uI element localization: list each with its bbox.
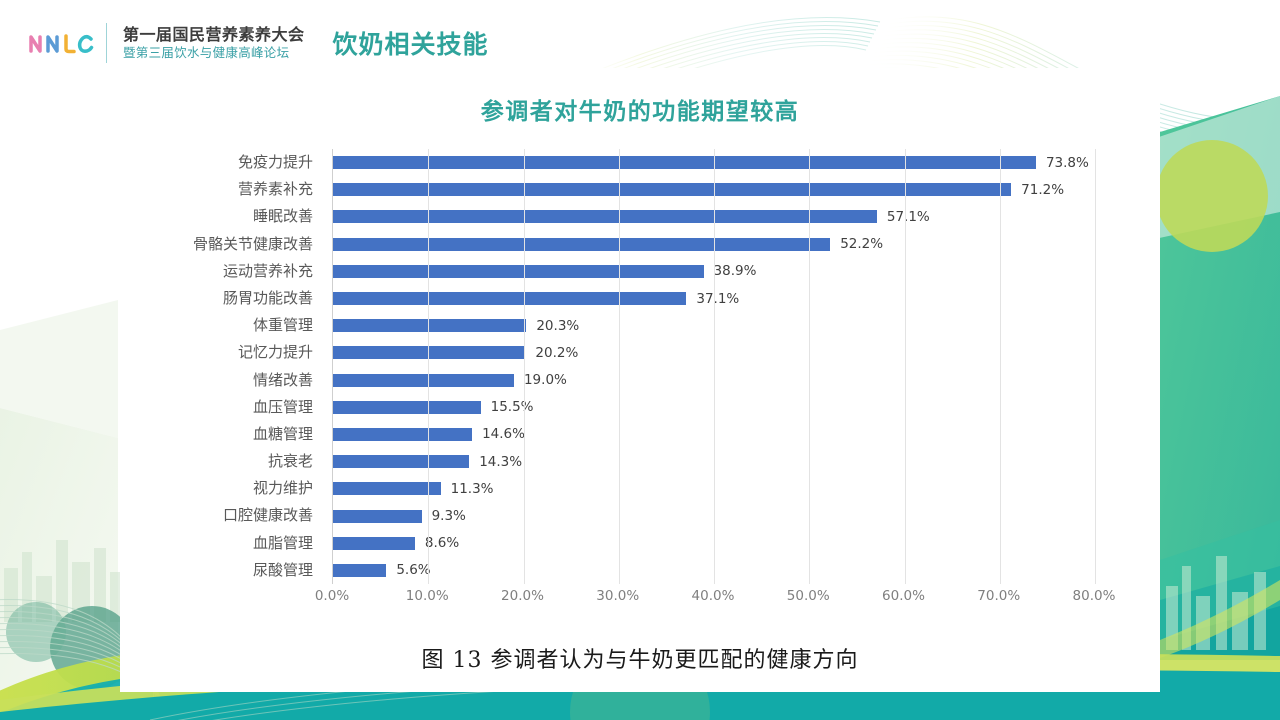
- value-tick-label: 20.0%: [501, 588, 544, 604]
- category-label: 视力维护: [150, 475, 322, 502]
- bar: [333, 210, 877, 223]
- figure-caption: 图 13 参调者认为与牛奶更匹配的健康方向: [120, 642, 1160, 674]
- plot-area: 73.8%71.2%57.1%52.2%38.9%37.1%20.3%20.2%…: [332, 149, 1094, 584]
- section-title: 饮奶相关技能: [333, 25, 489, 61]
- bar-value-label: 71.2%: [1021, 182, 1064, 198]
- bar: [333, 238, 830, 251]
- bar: [333, 428, 472, 441]
- gridline: [809, 149, 810, 584]
- category-label: 免疫力提升: [150, 149, 322, 176]
- category-label: 尿酸管理: [150, 557, 322, 584]
- bar-value-label: 57.1%: [887, 209, 930, 225]
- bar-value-label: 5.6%: [396, 562, 430, 578]
- gridline: [905, 149, 906, 584]
- bar-value-label: 15.5%: [491, 399, 534, 415]
- chart-title: 参调者对牛奶的功能期望较高: [120, 92, 1160, 126]
- nnlc-logo-icon: [28, 23, 94, 63]
- slide-header: 第一届国民营养素养大会 暨第三届饮水与健康高峰论坛 饮奶相关技能: [0, 0, 1280, 86]
- value-tick-label: 80.0%: [1073, 588, 1116, 604]
- bar-value-label: 11.3%: [451, 481, 494, 497]
- value-tick-label: 40.0%: [692, 588, 735, 604]
- bar: [333, 482, 441, 495]
- value-axis-labels: 0.0%10.0%20.0%30.0%40.0%50.0%60.0%70.0%8…: [332, 584, 1094, 612]
- category-label: 睡眠改善: [150, 203, 322, 230]
- logo-title-line1: 第一届国民营养素养大会: [123, 25, 305, 44]
- category-label: 血糖管理: [150, 421, 322, 448]
- logo-title-line2: 暨第三届饮水与健康高峰论坛: [123, 44, 305, 61]
- content-card: 参调者对牛奶的功能期望较高 免疫力提升营养素补充睡眠改善骨骼关节健康改善运动营养…: [120, 68, 1160, 692]
- category-label: 体重管理: [150, 312, 322, 339]
- bar-chart: 免疫力提升营养素补充睡眠改善骨骼关节健康改善运动营养补充肠胃功能改善体重管理记忆…: [150, 143, 1150, 613]
- gridline: [428, 149, 429, 584]
- gridline: [1095, 149, 1096, 584]
- value-tick-label: 50.0%: [787, 588, 830, 604]
- gridline: [714, 149, 715, 584]
- bar-value-label: 14.3%: [479, 454, 522, 470]
- bar: [333, 319, 526, 332]
- bar: [333, 510, 422, 523]
- category-label: 运动营养补充: [150, 258, 322, 285]
- bar: [333, 265, 704, 278]
- gridline: [1000, 149, 1001, 584]
- bar-value-label: 19.0%: [524, 372, 567, 388]
- category-label: 骨骼关节健康改善: [150, 231, 322, 258]
- bar: [333, 455, 469, 468]
- category-label: 记忆力提升: [150, 339, 322, 366]
- bar: [333, 537, 415, 550]
- bar: [333, 564, 386, 577]
- bar-value-label: 20.3%: [536, 318, 579, 334]
- value-tick-label: 70.0%: [977, 588, 1020, 604]
- gridline: [524, 149, 525, 584]
- bar-value-label: 52.2%: [840, 236, 883, 252]
- category-label: 肠胃功能改善: [150, 285, 322, 312]
- bar-value-label: 38.9%: [714, 263, 757, 279]
- gridline: [619, 149, 620, 584]
- category-label: 情绪改善: [150, 367, 322, 394]
- category-label: 抗衰老: [150, 448, 322, 475]
- category-label: 营养素补充: [150, 176, 322, 203]
- value-tick-label: 10.0%: [406, 588, 449, 604]
- bar-value-label: 8.6%: [425, 535, 459, 551]
- bar: [333, 401, 481, 414]
- logo-divider: [106, 23, 107, 63]
- bar: [333, 374, 514, 387]
- category-label: 血脂管理: [150, 530, 322, 557]
- value-tick-label: 30.0%: [596, 588, 639, 604]
- bar-value-label: 9.3%: [432, 508, 466, 524]
- bar: [333, 156, 1036, 169]
- bar-value-label: 20.2%: [535, 345, 578, 361]
- bar-value-label: 37.1%: [696, 291, 739, 307]
- slide-canvas: 第一届国民营养素养大会 暨第三届饮水与健康高峰论坛 饮奶相关技能 参调者对牛奶的…: [0, 0, 1280, 720]
- bar-value-label: 14.6%: [482, 426, 525, 442]
- bar: [333, 183, 1011, 196]
- logo-text-block: 第一届国民营养素养大会 暨第三届饮水与健康高峰论坛: [123, 25, 305, 61]
- category-label: 血压管理: [150, 394, 322, 421]
- value-tick-label: 60.0%: [882, 588, 925, 604]
- value-tick-label: 0.0%: [315, 588, 349, 604]
- category-axis-labels: 免疫力提升营养素补充睡眠改善骨骼关节健康改善运动营养补充肠胃功能改善体重管理记忆…: [150, 149, 322, 584]
- bar: [333, 292, 686, 305]
- bar-value-label: 73.8%: [1046, 155, 1089, 171]
- category-label: 口腔健康改善: [150, 502, 322, 529]
